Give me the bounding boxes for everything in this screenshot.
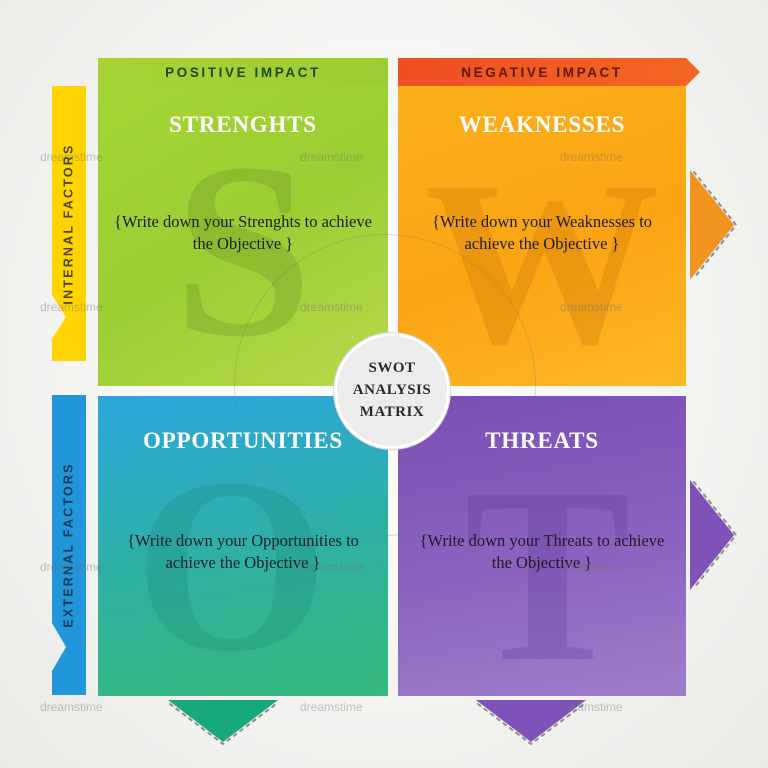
axis-label-internal-factors: INTERNAL FACTORS <box>52 86 86 361</box>
watermark-tile: dreamstime <box>300 700 363 714</box>
arrow-right-top-icon <box>690 170 740 280</box>
quadrant-threats-title: THREATS <box>398 428 686 454</box>
swot-diagram: INTERNAL FACTORS EXTERNAL FACTORS POSITI… <box>0 0 768 768</box>
arrow-bottom-right-icon <box>476 700 586 746</box>
quadrant-weaknesses-body: {Write down your Weaknesses to achieve t… <box>398 211 686 255</box>
axis-label-external-factors-text: EXTERNAL FACTORS <box>62 462 76 627</box>
quadrant-strengths-body: {Write down your Strenghts to achieve th… <box>98 211 388 255</box>
axis-label-positive-impact-text: POSITIVE IMPACT <box>165 65 321 80</box>
arrow-right-bottom-icon <box>690 480 740 590</box>
quadrant-opportunities: O OPPORTUNITIES {Write down your Opportu… <box>98 396 388 696</box>
quadrant-threats-body: {Write down your Threats to achieve the … <box>398 530 686 574</box>
ghost-letter-w: W <box>425 146 660 381</box>
center-label-line2: ANALYSIS <box>353 380 431 402</box>
quadrant-opportunities-title: OPPORTUNITIES <box>98 428 388 454</box>
quadrant-weaknesses: W WEAKNESSES {Write down your Weaknesses… <box>398 86 686 386</box>
axis-label-positive-impact: POSITIVE IMPACT <box>98 58 388 86</box>
center-label-line3: MATRIX <box>360 402 424 424</box>
axis-label-internal-factors-text: INTERNAL FACTORS <box>62 143 76 304</box>
quadrant-strengths: S STRENGHTS {Write down your Strenghts t… <box>98 86 388 386</box>
quadrant-strengths-title: STRENGHTS <box>98 112 388 138</box>
quadrant-opportunities-body: {Write down your Opportunities to achiev… <box>98 530 388 574</box>
arrow-bottom-left-icon <box>168 700 278 746</box>
axis-label-negative-impact-text: NEGATIVE IMPACT <box>461 65 623 80</box>
quadrant-weaknesses-title: WEAKNESSES <box>398 112 686 138</box>
quadrant-threats: T THREATS {Write down your Threats to ac… <box>398 396 686 696</box>
axis-label-negative-impact: NEGATIVE IMPACT <box>398 58 686 86</box>
center-label-line1: SWOT <box>368 358 415 380</box>
axis-label-external-factors: EXTERNAL FACTORS <box>52 395 86 695</box>
watermark-tile: dreamstime <box>40 700 103 714</box>
center-label-swot-analysis-matrix: SWOT ANALYSIS MATRIX <box>334 333 450 449</box>
